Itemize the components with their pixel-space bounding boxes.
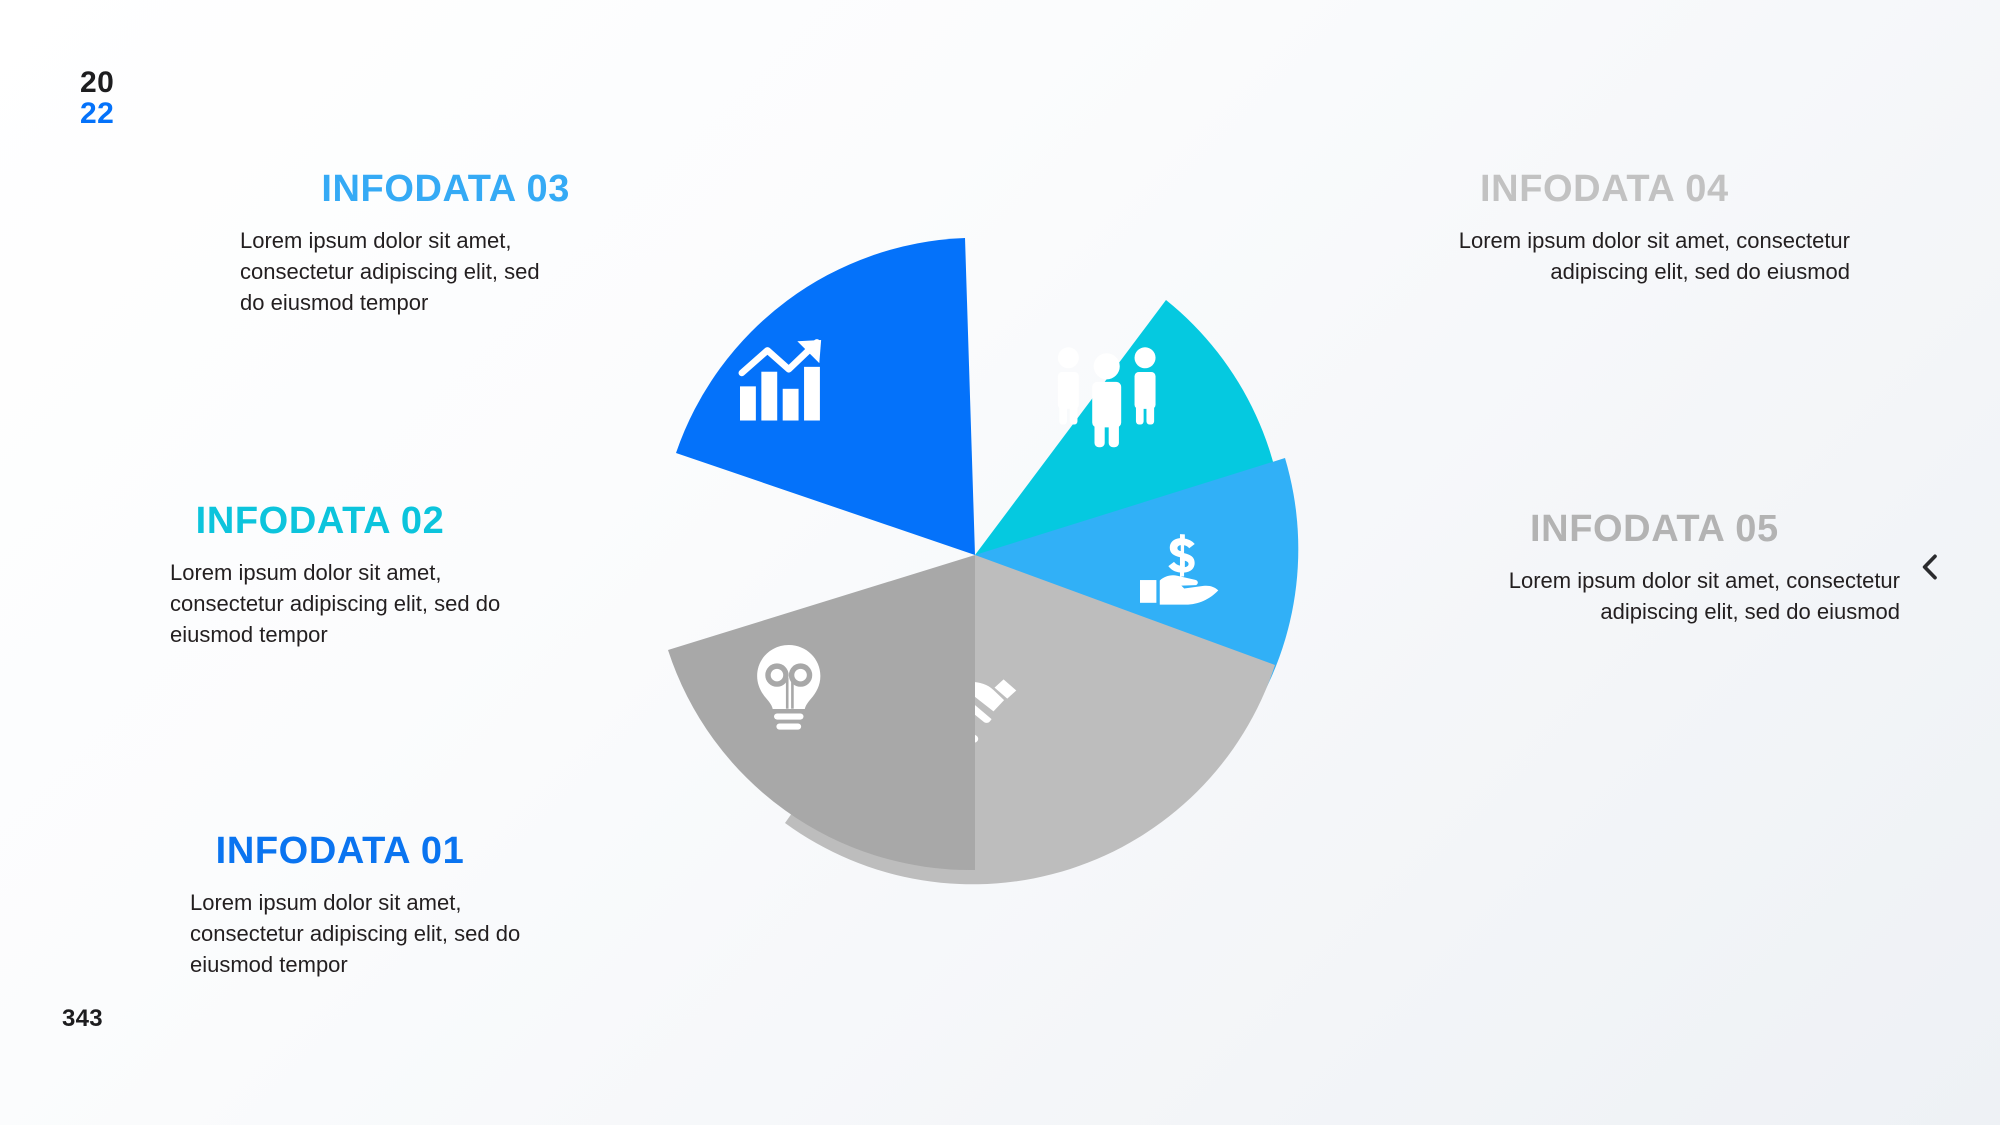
segment-shape-02[interactable] bbox=[676, 238, 975, 555]
info-title-02: INFODATA 02 bbox=[110, 500, 530, 543]
slide-canvas: 20 22 343 INFODATA 03 Lorem ipsum dolor … bbox=[0, 0, 2000, 1125]
year-label: 20 22 bbox=[80, 68, 114, 129]
pinwheel-segment-02[interactable] bbox=[676, 238, 975, 555]
pinwheel-segment-01[interactable] bbox=[668, 555, 975, 870]
year-suffix: 22 bbox=[80, 99, 114, 130]
info-block-03[interactable]: INFODATA 03 Lorem ipsum dolor sit amet, … bbox=[150, 168, 570, 319]
info-body-04: Lorem ipsum dolor sit amet, consectetur … bbox=[1450, 225, 1870, 287]
info-block-04[interactable]: INFODATA 04 Lorem ipsum dolor sit amet, … bbox=[1450, 168, 1870, 287]
info-block-02[interactable]: INFODATA 02 Lorem ipsum dolor sit amet, … bbox=[110, 500, 530, 651]
info-body-05: Lorem ipsum dolor sit amet, consectetur … bbox=[1500, 565, 1920, 627]
info-title-01: INFODATA 01 bbox=[130, 830, 550, 873]
info-body-03: Lorem ipsum dolor sit amet, consectetur … bbox=[150, 225, 570, 319]
info-body-02: Lorem ipsum dolor sit amet, consectetur … bbox=[110, 557, 530, 651]
info-block-05[interactable]: INFODATA 05 Lorem ipsum dolor sit amet, … bbox=[1500, 508, 1920, 627]
page-number: 343 bbox=[62, 1005, 103, 1033]
year-prefix: 20 bbox=[80, 68, 114, 99]
info-title-04: INFODATA 04 bbox=[1450, 168, 1870, 211]
info-title-05: INFODATA 05 bbox=[1500, 508, 1920, 551]
info-title-03: INFODATA 03 bbox=[150, 168, 570, 211]
pinwheel-diagram bbox=[585, 145, 1405, 975]
info-block-01[interactable]: INFODATA 01 Lorem ipsum dolor sit amet, … bbox=[130, 830, 550, 981]
info-body-01: Lorem ipsum dolor sit amet, consectetur … bbox=[130, 887, 550, 981]
segment-shape-01[interactable] bbox=[668, 555, 975, 870]
